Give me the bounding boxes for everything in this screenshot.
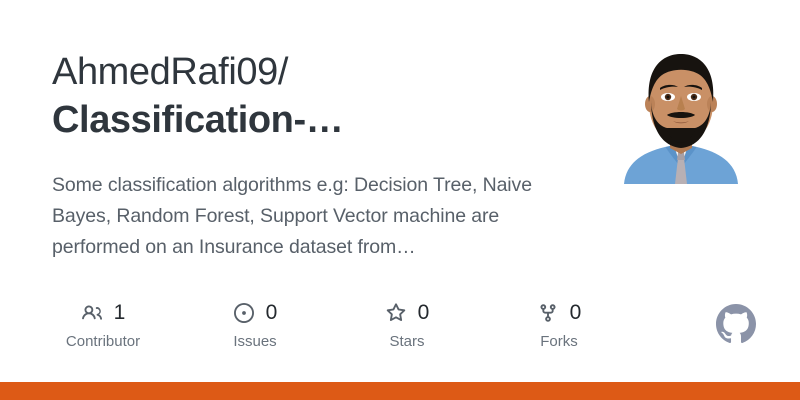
star-icon: [385, 302, 407, 324]
stat-issues-label: Issues: [233, 333, 276, 351]
owner-avatar: [610, 42, 752, 184]
repository-name[interactable]: Classification-…: [52, 96, 572, 144]
stat-forks-label: Forks: [540, 333, 578, 351]
stat-stars[interactable]: 0 Stars: [356, 300, 458, 351]
stat-forks-count: 0: [570, 302, 582, 324]
language-color-bar: [0, 382, 800, 400]
github-repository-social-card: AhmedRafi09/ Classification-… Some class…: [0, 0, 800, 400]
repo-forked-icon: [537, 302, 559, 324]
repository-description: Some classification algorithms e.g: Deci…: [52, 170, 572, 263]
stat-forks[interactable]: 0 Forks: [508, 300, 610, 351]
stat-issues-top: 0: [233, 300, 278, 326]
stat-stars-count: 0: [418, 302, 430, 324]
stat-contributors-label: Contributor: [66, 333, 140, 351]
stat-issues-count: 0: [266, 302, 278, 324]
stat-stars-label: Stars: [389, 333, 424, 351]
stat-contributors-count: 1: [114, 302, 126, 324]
stat-issues[interactable]: 0 Issues: [204, 300, 306, 351]
github-logo: [716, 304, 756, 344]
repository-stats: 1 Contributor 0 Issues: [52, 300, 610, 351]
stat-contributors[interactable]: 1 Contributor: [52, 300, 154, 351]
page-title: AhmedRafi09/ Classification-…: [52, 48, 572, 144]
people-icon: [81, 302, 103, 324]
stat-stars-top: 0: [385, 300, 430, 326]
stat-contributors-top: 1: [81, 300, 126, 326]
repository-owner[interactable]: AhmedRafi09/: [52, 48, 572, 96]
issue-opened-icon: [233, 302, 255, 324]
stat-forks-top: 0: [537, 300, 582, 326]
